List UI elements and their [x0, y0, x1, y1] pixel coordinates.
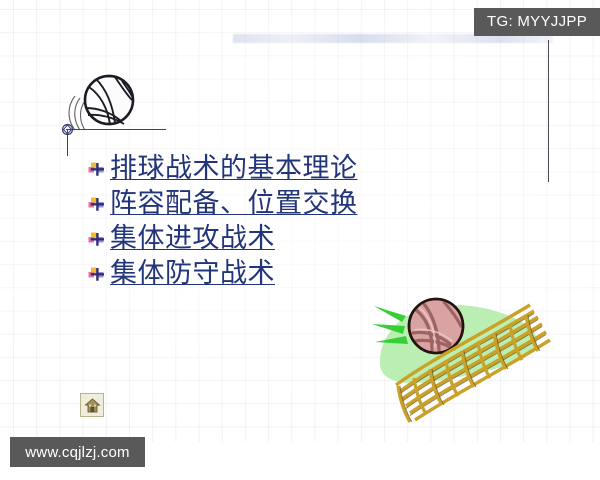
list-item-label: 排球战术的基本理论: [110, 152, 358, 186]
watermark-top-right: TG: MYYJJPP: [474, 8, 600, 36]
plus-gradient-bullet-icon: [88, 231, 106, 249]
list-item[interactable]: 排球战术的基本理论: [88, 152, 518, 187]
decorative-horizontal-rule: [66, 129, 166, 130]
plus-gradient-bullet-icon: [88, 196, 106, 214]
list-item[interactable]: 集体进攻战术: [88, 222, 518, 257]
plus-gradient-bullet-icon: [88, 266, 106, 284]
plus-gradient-bullet-icon: [88, 161, 106, 179]
list-item-label: 集体防守战术: [110, 257, 275, 291]
bullet-list: 排球战术的基本理论 阵容配备、位置交换: [88, 152, 518, 292]
decorative-diamond-node: [61, 123, 74, 136]
list-item[interactable]: 集体防守战术: [88, 257, 518, 292]
list-item-label: 阵容配备、位置交换: [110, 187, 358, 221]
home-icon: [84, 397, 101, 414]
list-item-label: 集体进攻战术: [110, 222, 275, 256]
right-vertical-rule: [548, 40, 549, 182]
watermark-bottom-left: www.cqjlzj.com: [10, 437, 145, 467]
list-item[interactable]: 阵容配备、位置交换: [88, 187, 518, 222]
home-button[interactable]: [80, 393, 104, 417]
slide-root: 排球战术的基本理论 阵容配备、位置交换: [0, 0, 600, 480]
volleyball-and-net-clipart: [372, 288, 572, 430]
